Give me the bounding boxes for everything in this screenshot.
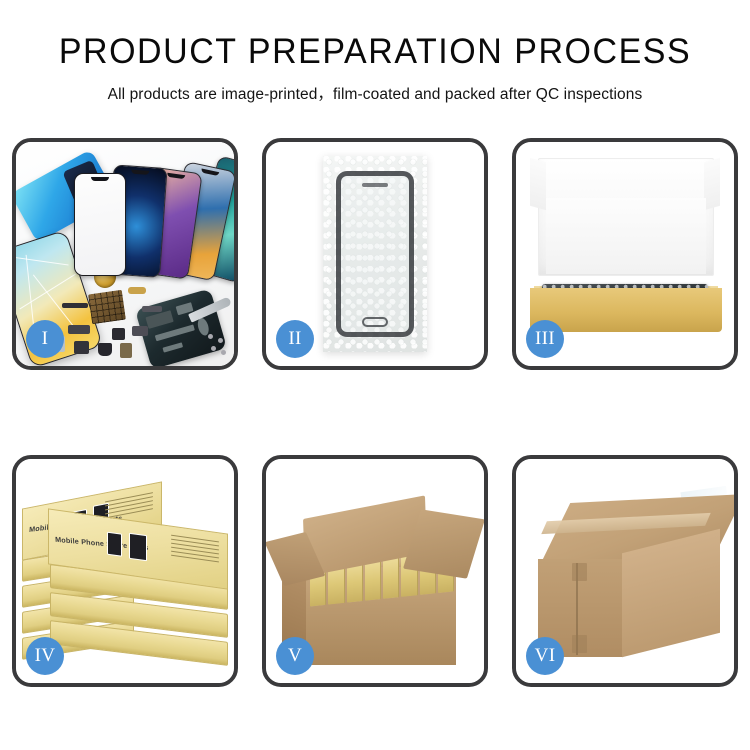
phone-screen-1	[74, 173, 126, 276]
notch-icon	[91, 177, 109, 181]
spare-part	[74, 341, 89, 354]
box-product-thumbnail	[129, 533, 147, 562]
page-subtitle: All products are image-printed，film-coat…	[0, 82, 750, 104]
carton-flap-tab	[572, 563, 587, 581]
box-spec-lines	[171, 535, 219, 566]
panel-badge-6: VI	[526, 637, 564, 675]
panel-badge-1: I	[26, 320, 64, 358]
earpiece-slot	[362, 183, 388, 187]
page-header: PRODUCT PREPARATION PROCESS All products…	[0, 0, 750, 104]
screws-group	[208, 334, 228, 356]
crack-line	[16, 256, 69, 266]
process-panel-2[interactable]: II	[262, 138, 488, 370]
foam-padding	[546, 198, 706, 274]
home-button	[362, 317, 388, 327]
screw	[211, 346, 216, 351]
screen-glass-outline	[336, 171, 414, 337]
bubble-wrap-sheet	[323, 156, 427, 352]
panel-badge-3: III	[526, 320, 564, 358]
notch-icon	[167, 173, 185, 179]
pcb-component	[155, 324, 195, 341]
spare-part	[132, 326, 148, 336]
spare-part	[62, 303, 88, 308]
spare-part	[112, 328, 125, 340]
process-panel-1[interactable]: I	[12, 138, 238, 370]
screw	[208, 334, 213, 339]
spare-part	[98, 343, 112, 356]
process-panel-4[interactable]: Mobile Phone Spare Parts Mobile Phone Sp…	[12, 455, 238, 687]
process-panel-3[interactable]: III	[512, 138, 738, 370]
box-flap-left	[530, 158, 546, 211]
spare-part	[128, 287, 146, 294]
phone-fan-group	[68, 156, 234, 276]
spare-part	[120, 343, 132, 358]
process-panel-5[interactable]: V	[262, 455, 488, 687]
carton-flap-tab	[572, 635, 587, 653]
panel-badge-2: II	[276, 320, 314, 358]
notch-icon	[131, 170, 149, 175]
panel-badge-4: IV	[26, 637, 64, 675]
screw	[218, 338, 223, 343]
process-panel-grid: I II III	[12, 138, 738, 687]
box-flap-right	[704, 158, 720, 211]
panel-badge-5: V	[276, 637, 314, 675]
pcb-component	[162, 342, 183, 352]
spare-part	[142, 306, 162, 312]
chip-array	[88, 290, 126, 324]
notch-icon	[201, 168, 219, 176]
box-product-thumbnail	[107, 532, 122, 557]
box-edge	[51, 638, 227, 665]
spare-part	[68, 325, 90, 334]
process-panel-6[interactable]: VI	[512, 455, 738, 687]
screw	[221, 350, 226, 355]
page-title: PRODUCT PREPARATION PROCESS	[11, 34, 739, 71]
pcb-component	[145, 310, 173, 329]
